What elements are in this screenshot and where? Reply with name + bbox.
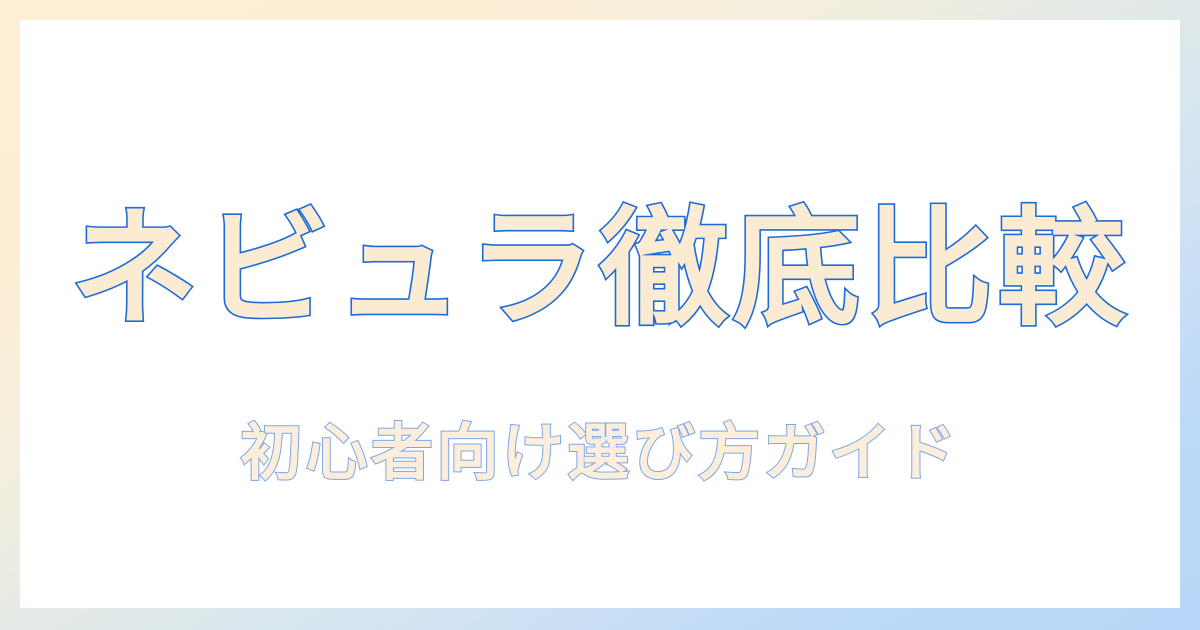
title-container: ネビュラ徹底比較 [20,180,1180,360]
subtitle-container: 初心者向け選び方ガイド [20,403,1180,503]
page-subtitle: 初心者向け選び方ガイド [240,403,960,503]
page-title: ネビュラ徹底比較 [70,180,1130,360]
poster-card: ネビュラ徹底比較 初心者向け選び方ガイド [20,20,1180,608]
poster-background: ネビュラ徹底比較 初心者向け選び方ガイド [0,0,1200,630]
